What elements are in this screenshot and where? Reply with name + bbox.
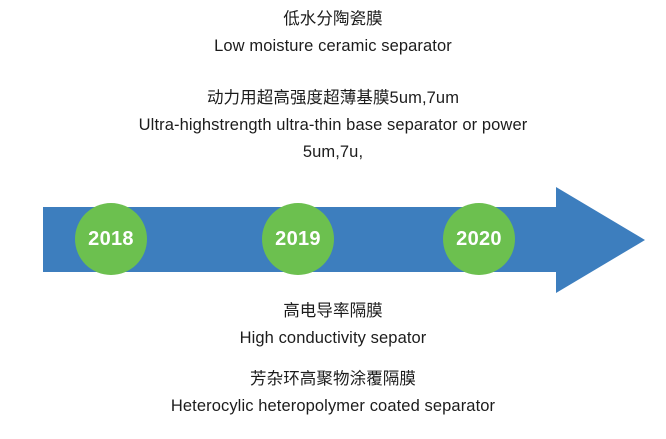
bottom-text-group-2: 芳杂环高聚物涂覆隔膜 Heterocylic heteropolymer coa… (0, 366, 666, 420)
top-text-line-cn-1: 低水分陶瓷膜 (0, 6, 666, 33)
bottom-text-line-cn-2: 芳杂环高聚物涂覆隔膜 (0, 366, 666, 393)
milestone-2019[interactable]: 2019 (262, 203, 334, 275)
bottom-text-line-cn-1: 高电导率隔膜 (0, 298, 666, 325)
milestone-2020-label: 2020 (456, 229, 502, 249)
top-text-line-cn-2: 动力用超高强度超薄基膜5um,7um (0, 85, 666, 112)
top-text-group-2: 动力用超高强度超薄基膜5um,7um Ultra-highstrength ul… (0, 85, 666, 166)
milestone-2020[interactable]: 2020 (443, 203, 515, 275)
top-text-line-en-1: Low moisture ceramic separator (0, 33, 666, 60)
bottom-text-group-1: 高电导率隔膜 High conductivity sepator (0, 298, 666, 352)
milestone-2018[interactable]: 2018 (75, 203, 147, 275)
bottom-text-line-en-2: Heterocylic heteropolymer coated separat… (0, 393, 666, 420)
timeline-diagram: 低水分陶瓷膜 Low moisture ceramic separator 动力… (0, 0, 666, 439)
top-text-group-1: 低水分陶瓷膜 Low moisture ceramic separator (0, 6, 666, 60)
milestone-2018-label: 2018 (88, 229, 134, 249)
milestone-2019-label: 2019 (275, 229, 321, 249)
top-text-line-en-2: Ultra-highstrength ultra-thin base separ… (0, 112, 666, 139)
bottom-text-line-en-1: High conductivity sepator (0, 325, 666, 352)
top-text-line-en-2-cont: 5um,7u, (0, 139, 666, 166)
